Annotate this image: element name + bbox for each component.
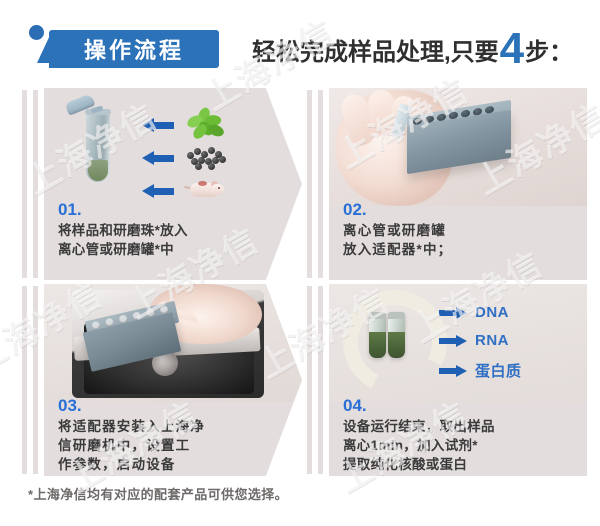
headline: 轻松完成样品处理,只要 4 步： bbox=[252, 28, 573, 72]
step-card-body: 02. 离心管或研磨罐 放入适配器*中； bbox=[329, 88, 587, 280]
step-card-2: 02. 离心管或研磨罐 放入适配器*中； bbox=[307, 88, 587, 280]
sample-vial-icon bbox=[369, 312, 386, 358]
result-label: DNA bbox=[475, 304, 509, 321]
arrow-left-icon bbox=[142, 151, 174, 165]
card-stripe bbox=[33, 90, 38, 278]
step-card-body: 01. 将样品和研磨珠*放入 离心管或研磨罐*中 bbox=[44, 88, 302, 280]
headline-prefix: 轻松完成样品处理,只要 bbox=[252, 32, 499, 67]
sample-vial-icon bbox=[388, 312, 405, 358]
headline-suffix: 步： bbox=[525, 32, 573, 67]
banner-title: 操作流程 bbox=[49, 30, 219, 68]
footnote: *上海净信均有对应的配套产品可供您选择。 bbox=[28, 484, 288, 503]
step-text-line: 设备运行结束，取出样品 bbox=[343, 417, 553, 436]
step-text-line: 离心管或研磨罐 bbox=[343, 221, 553, 240]
step-card-body: DNA RNA 蛋白质 04. 设备运行结束，取出样品 离心1min，加入试剂*… bbox=[329, 284, 587, 476]
step-card-1: 01. 将样品和研磨珠*放入 离心管或研磨罐*中 bbox=[22, 88, 302, 280]
card-stripe bbox=[318, 286, 323, 474]
step-text-line: 提取纯化核酸或蛋白 bbox=[343, 455, 553, 474]
card-stripe bbox=[33, 286, 38, 474]
step-1-caption: 01. 将样品和研磨珠*放入 离心管或研磨罐*中 bbox=[58, 200, 268, 259]
step-card-4: DNA RNA 蛋白质 04. 设备运行结束，取出样品 离心1min，加入试剂*… bbox=[307, 284, 587, 476]
card-stripe bbox=[22, 90, 27, 278]
card-stripe bbox=[22, 286, 27, 474]
step-2-illustration bbox=[329, 88, 587, 206]
card-stripe bbox=[307, 286, 312, 474]
centrifuge-tube-icon bbox=[82, 98, 112, 184]
step-text-line: 信研磨机中，设置工 bbox=[58, 436, 268, 455]
step-number: 02. bbox=[343, 200, 553, 220]
step-2-caption: 02. 离心管或研磨罐 放入适配器*中； bbox=[343, 200, 553, 259]
step-4-caption: 04. 设备运行结束，取出样品 离心1min，加入试剂* 提取纯化核酸或蛋白 bbox=[343, 396, 553, 474]
arrow-right-icon bbox=[439, 335, 467, 347]
result-row-rna: RNA bbox=[439, 332, 509, 349]
step-card-3: 03. 将适配器安装入上海净 信研磨机中，设置工 作参数，启动设备 bbox=[22, 284, 302, 476]
step-text-line: 离心1min，加入试剂* bbox=[343, 436, 553, 455]
step-text-line: 将适配器安装入上海净 bbox=[58, 417, 268, 436]
card-stripe bbox=[318, 90, 323, 278]
result-row-protein: 蛋白质 bbox=[439, 360, 522, 381]
arrow-left-icon bbox=[142, 184, 174, 198]
step-text-line: 离心管或研磨罐*中 bbox=[58, 240, 268, 259]
headline-step-count: 4 bbox=[500, 31, 524, 66]
grinding-beads-icon bbox=[184, 143, 226, 173]
arrow-right-icon bbox=[439, 365, 467, 377]
step-number: 03. bbox=[58, 396, 268, 416]
step-4-illustration: DNA RNA 蛋白质 bbox=[329, 284, 587, 402]
result-label: 蛋白质 bbox=[475, 360, 522, 381]
sample-row-beads bbox=[142, 143, 226, 173]
step-number: 01. bbox=[58, 200, 268, 220]
arrow-left-icon bbox=[142, 118, 174, 132]
sample-row-plant bbox=[142, 110, 226, 140]
arrow-right-icon bbox=[439, 307, 467, 319]
step-text-line: 放入适配器*中； bbox=[343, 240, 553, 259]
step-text-line: 作参数，启动设备 bbox=[58, 455, 268, 474]
page-header: 操作流程 轻松完成样品处理,只要 4 步： bbox=[0, 0, 600, 88]
result-row-dna: DNA bbox=[439, 304, 509, 321]
step-3-caption: 03. 将适配器安装入上海净 信研磨机中，设置工 作参数，启动设备 bbox=[58, 396, 268, 474]
steps-grid: 01. 将样品和研磨珠*放入 离心管或研磨罐*中 bbox=[0, 88, 600, 480]
result-label: RNA bbox=[475, 332, 509, 349]
step-3-illustration bbox=[44, 284, 302, 402]
plant-leaf-icon bbox=[184, 110, 226, 140]
step-text-line: 将样品和研磨珠*放入 bbox=[58, 221, 268, 240]
step-1-illustration bbox=[44, 88, 302, 206]
step-number: 04. bbox=[343, 396, 553, 416]
step-card-body: 03. 将适配器安装入上海净 信研磨机中，设置工 作参数，启动设备 bbox=[44, 284, 302, 476]
card-stripe bbox=[307, 90, 312, 278]
